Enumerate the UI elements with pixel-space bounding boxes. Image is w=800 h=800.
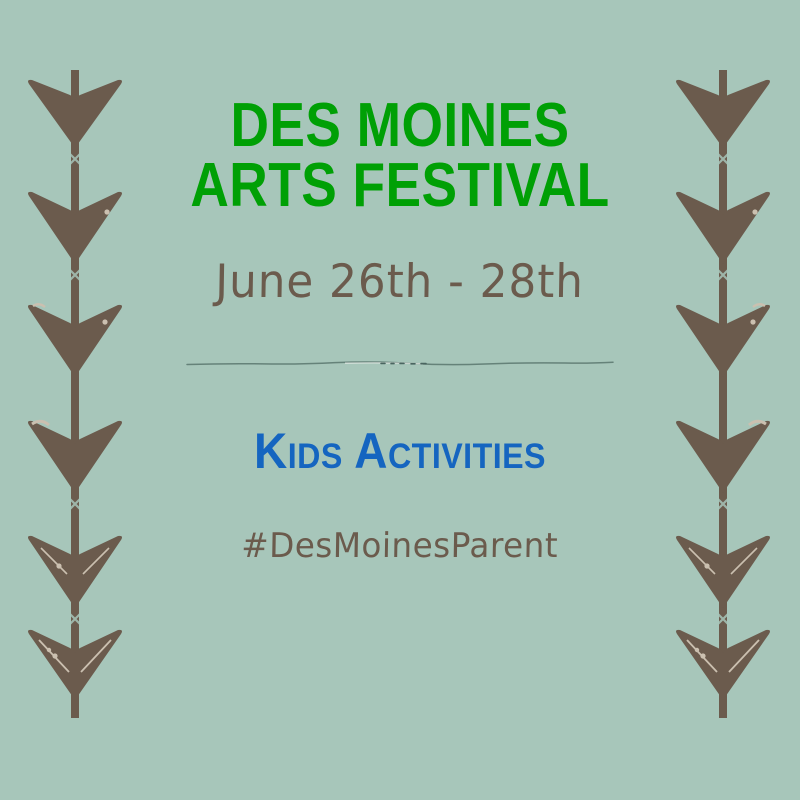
arrow-border-left [15, 0, 135, 800]
arrow-border-right [663, 0, 783, 800]
hand-drawn-divider [185, 356, 615, 370]
arrow-shaft-left [71, 70, 80, 718]
event-title: DES MOINES ARTS FESTIVAL [168, 96, 632, 215]
arrow-shaft-right [718, 70, 727, 718]
content-stack: DES MOINES ARTS FESTIVAL June 26th - 28t… [130, 0, 670, 800]
section-subtitle: Kids Activities [152, 426, 649, 476]
event-dates: June 26th - 28th [143, 258, 657, 304]
hashtag-label: #DesMoinesParent [140, 529, 659, 563]
poster-canvas: DES MOINES ARTS FESTIVAL June 26th - 28t… [0, 0, 800, 800]
arrow-fletching-group-left [28, 80, 122, 700]
arrow-binding-marks-right [716, 152, 730, 626]
arrow-fletching-group-right [676, 80, 770, 700]
arrow-binding-marks-left [68, 152, 82, 626]
